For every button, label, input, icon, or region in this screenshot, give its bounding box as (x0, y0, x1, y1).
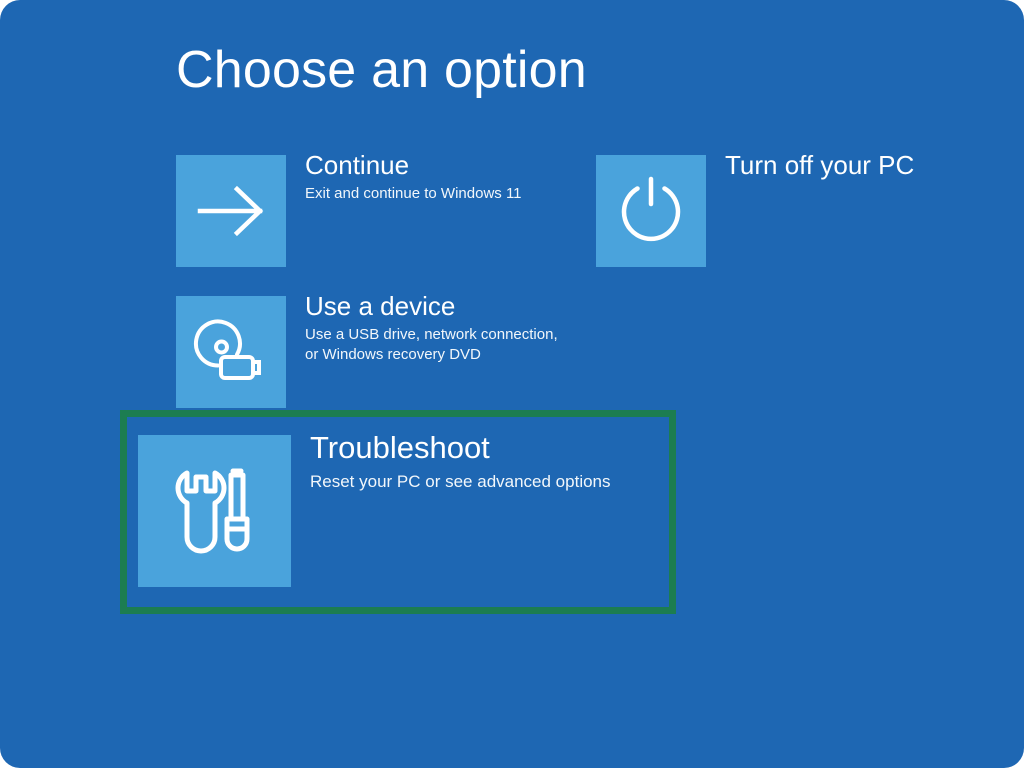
option-continue-subtitle-line-1: Exit and continue to Windows 11 (305, 184, 522, 204)
arrow-right-icon (194, 181, 268, 241)
option-turn-off-your-pc-title: Turn off your PC (725, 151, 914, 180)
option-troubleshoot-subtitle-line-1: Reset your PC or see advanced options (310, 471, 611, 494)
power-icon (616, 175, 686, 247)
option-continue[interactable]: Continue Exit and continue to Windows 11 (176, 155, 522, 267)
option-continue-text: Continue Exit and continue to Windows 11 (305, 151, 522, 204)
option-use-a-device-subtitle-line-1: Use a USB drive, network connection, (305, 325, 558, 345)
option-troubleshoot[interactable]: Troubleshoot Reset your PC or see advanc… (138, 435, 611, 587)
option-troubleshoot-title: Troubleshoot (310, 431, 611, 466)
windows-recovery-choose-an-option-screen: Choose an option Continue Exit and conti… (0, 0, 1024, 768)
option-use-a-device-tile[interactable] (176, 296, 286, 408)
disc-usb-icon (193, 317, 269, 387)
option-use-a-device-subtitle-line-2: or Windows recovery DVD (305, 345, 558, 365)
option-turn-off-your-pc-text: Turn off your PC (725, 151, 914, 180)
option-troubleshoot-subtitle: Reset your PC or see advanced options (310, 471, 611, 494)
option-continue-title: Continue (305, 151, 522, 180)
page-title: Choose an option (176, 42, 587, 99)
option-use-a-device-title: Use a device (305, 292, 558, 321)
wrench-screwdriver-icon (167, 461, 263, 561)
option-troubleshoot-tile[interactable] (138, 435, 291, 587)
option-continue-subtitle: Exit and continue to Windows 11 (305, 184, 522, 204)
option-use-a-device[interactable]: Use a device Use a USB drive, network co… (176, 296, 558, 408)
option-troubleshoot-text: Troubleshoot Reset your PC or see advanc… (310, 431, 611, 493)
option-turn-off-your-pc[interactable]: Turn off your PC (596, 155, 914, 267)
option-turn-off-your-pc-tile[interactable] (596, 155, 706, 267)
option-use-a-device-text: Use a device Use a USB drive, network co… (305, 292, 558, 365)
option-continue-tile[interactable] (176, 155, 286, 267)
option-use-a-device-subtitle: Use a USB drive, network connection, or … (305, 325, 558, 365)
